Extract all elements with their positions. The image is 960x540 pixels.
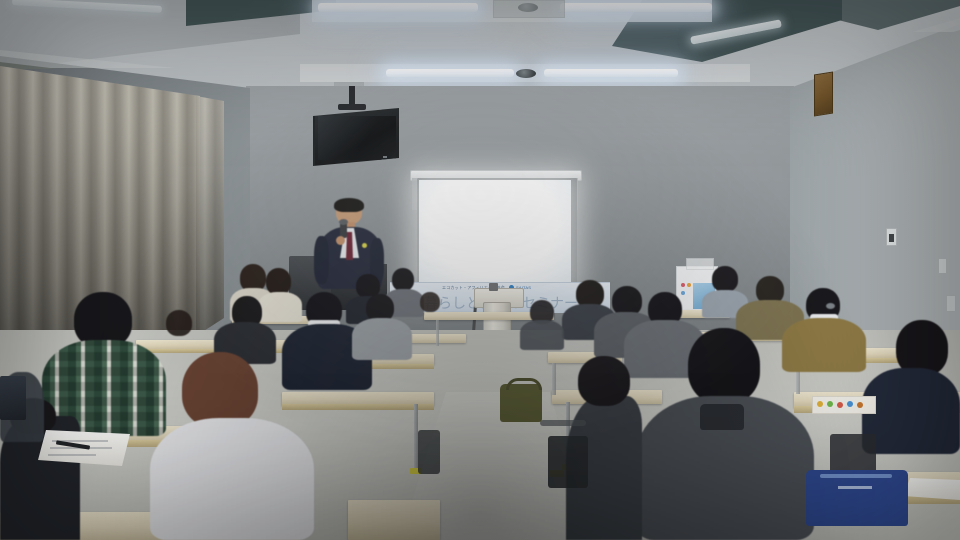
attendee-head-far-center-2 bbox=[392, 268, 414, 291]
light-switch-far-right[interactable] bbox=[938, 258, 947, 274]
chair-center-back bbox=[540, 420, 586, 426]
tv-power-led-icon bbox=[383, 156, 387, 158]
microphone-head-icon bbox=[339, 219, 348, 225]
ceiling-speaker-2 bbox=[516, 69, 536, 78]
light-switch-right[interactable] bbox=[886, 228, 897, 246]
attendee-head-grey-sweater bbox=[688, 328, 760, 404]
ceiling-vent-1 bbox=[493, 0, 565, 18]
fluorescent-tube-1 bbox=[318, 3, 478, 12]
notice-dot-blue bbox=[681, 291, 685, 295]
colour-brochure[interactable] bbox=[812, 396, 876, 414]
fluorescent-tube-2 bbox=[560, 3, 712, 12]
attendee-body-khaki-sweater bbox=[782, 318, 866, 372]
light-switch-toggle[interactable] bbox=[889, 234, 894, 242]
tote-bag-green-handle bbox=[506, 378, 542, 390]
brochure-dot-blue bbox=[847, 401, 853, 407]
attendee-body-distant-2 bbox=[520, 320, 564, 350]
attendee-body-white-top bbox=[150, 418, 314, 540]
desk-leg-3 bbox=[552, 363, 556, 395]
presenter-tie bbox=[346, 232, 353, 260]
tv-mount-bracket bbox=[338, 104, 366, 110]
attendee-head-far-left-2 bbox=[266, 268, 291, 295]
wall-outlet-right[interactable] bbox=[946, 295, 956, 312]
projector-lens-icon bbox=[489, 283, 498, 291]
brochure-dot-orange bbox=[857, 402, 863, 408]
desk-row4-center-edge bbox=[282, 404, 434, 410]
attendee-head-far-left-3 bbox=[166, 310, 192, 336]
presenter-hand bbox=[336, 236, 345, 245]
desk-leg-4 bbox=[436, 320, 439, 346]
attendee-earpiece-icon bbox=[826, 303, 835, 309]
bag-dark-under-desk[interactable] bbox=[700, 404, 744, 430]
brochure-dot-yellow bbox=[817, 401, 823, 407]
attendee-head-right-edge bbox=[578, 356, 630, 406]
fluorescent-tube-3 bbox=[386, 69, 514, 77]
brochure-dot-green bbox=[827, 401, 833, 407]
chair-center bbox=[548, 436, 588, 488]
brochure-dot-red bbox=[837, 402, 843, 408]
attendee-head-far-right-1 bbox=[712, 266, 738, 292]
laptop-left[interactable] bbox=[0, 376, 26, 420]
handout-left-line-3 bbox=[48, 454, 96, 456]
tote-bag-blue[interactable] bbox=[806, 470, 908, 526]
notice-board-top-strip bbox=[686, 258, 714, 270]
notice-dot-red bbox=[681, 283, 685, 287]
tv-screen-glare bbox=[318, 116, 396, 160]
fluorescent-tube-4 bbox=[544, 69, 678, 77]
photo-scene: エコカット・アフィリエイト協会 SAITAS 暮らしとえこのセミナー bbox=[0, 0, 960, 540]
presenter-lapel-badge-icon bbox=[362, 243, 367, 248]
presenter-left-arm bbox=[314, 236, 329, 284]
tote-bag-handle bbox=[820, 474, 892, 478]
notice-dot-orange bbox=[687, 283, 691, 287]
attendee-body-navy-blazer-woman bbox=[862, 368, 960, 454]
attendee-head-white-top bbox=[182, 352, 258, 428]
attendee-head-distant-1 bbox=[420, 292, 440, 312]
tote-bag-print bbox=[838, 486, 872, 489]
wooden-plaque-icon bbox=[814, 71, 833, 116]
attendee-body-far-left-2 bbox=[258, 292, 302, 322]
attendee-body-grey-shirt bbox=[352, 318, 412, 360]
presenter-hair bbox=[334, 198, 364, 212]
chair-aisle bbox=[418, 430, 440, 474]
curtain-left-edge bbox=[196, 96, 224, 336]
projection-screen bbox=[419, 180, 571, 287]
desk-row5-center bbox=[348, 500, 440, 540]
